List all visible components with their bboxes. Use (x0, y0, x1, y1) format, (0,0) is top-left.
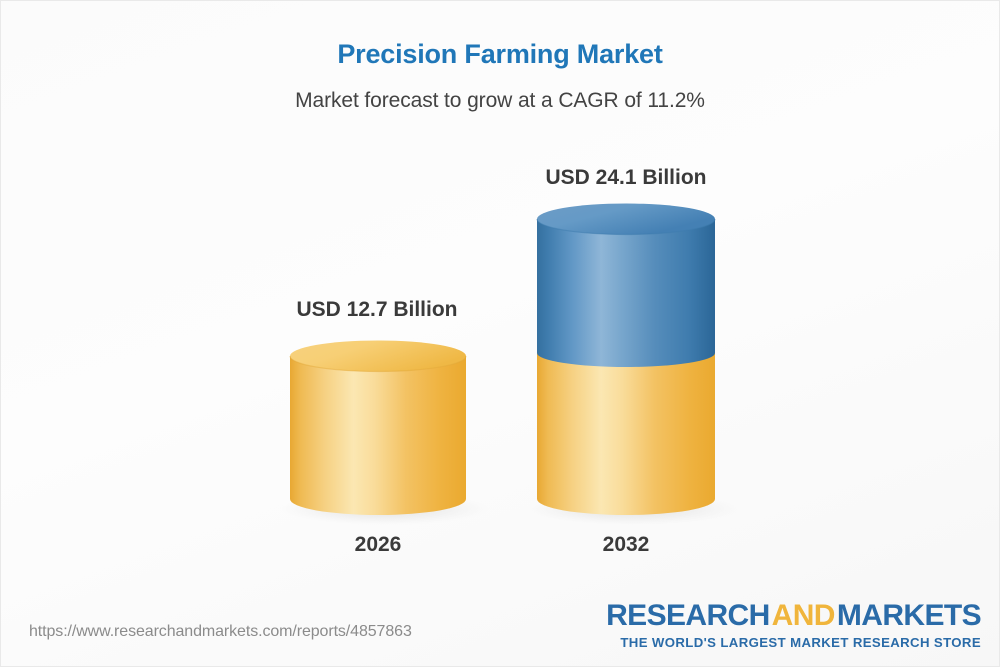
logo-wordmark: RESEARCHANDMARKETS (606, 601, 981, 631)
bar-2026-top-rim (290, 356, 466, 372)
bar-2032-segment-base (537, 353, 715, 515)
category-label-2032: 2032 (446, 533, 806, 557)
logo-word-research: RESEARCH (606, 599, 770, 632)
bar-value-label-2026: USD 12.7 Billion (197, 298, 557, 322)
chart-canvas: Precision Farming Market Market forecast… (0, 0, 1000, 667)
bar-shadow-2032 (526, 493, 738, 525)
bar-2032-top (537, 204, 715, 235)
brand-logo[interactable]: RESEARCHANDMARKETS THE WORLD'S LARGEST M… (606, 601, 981, 649)
bar-2026-cylinder (290, 341, 466, 516)
bar-2032-segment-growth (537, 219, 715, 367)
bar-2032-top-rim (537, 219, 715, 235)
bar-2032-cylinder (537, 204, 715, 516)
source-url[interactable]: https://www.researchandmarkets.com/repor… (29, 623, 412, 641)
bar-2026-top (290, 341, 466, 372)
logo-word-markets: MARKETS (837, 599, 981, 632)
bar-shadow-2026 (281, 493, 489, 525)
logo-word-and: AND (770, 599, 837, 632)
plot-area: USD 12.7 Billion USD 24.1 Billion 2026 2… (1, 1, 1000, 667)
logo-tagline: THE WORLD'S LARGEST MARKET RESEARCH STOR… (606, 636, 981, 649)
cylinder-bars-svg (1, 1, 1000, 667)
bar-2026-body (290, 356, 466, 515)
bar-value-label-2032: USD 24.1 Billion (446, 166, 806, 190)
